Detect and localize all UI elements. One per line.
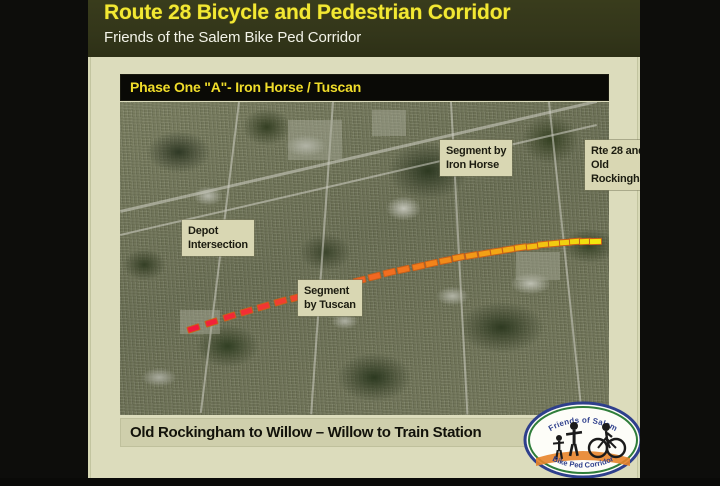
route-dash <box>452 253 466 262</box>
route-dash <box>222 312 236 322</box>
phase-caption-bar: Phase One "A"- Iron Horse / Tuscan <box>120 74 609 101</box>
route-dash <box>273 297 287 307</box>
letterbox-left-bar <box>0 0 88 486</box>
slide-header-band: Route 28 Bicycle and Pedestrian Corridor… <box>88 0 640 57</box>
route-dash <box>397 265 411 275</box>
slide-paper-surface: Phase One "A"- Iron Horse / Tuscan <box>90 57 638 486</box>
route-dash <box>411 261 425 271</box>
friends-of-salem-logo: Friends of Salem <box>522 400 640 480</box>
route-dash <box>186 323 201 334</box>
bike-route-overlay <box>120 102 609 415</box>
slide-subtitle: Friends of the Salem Bike Ped Corridor <box>104 29 361 46</box>
callout-segment-by-tuscan: Segment by Tuscan <box>298 280 362 316</box>
route-dash <box>239 306 253 316</box>
letterbox-right-bar <box>640 0 720 486</box>
callout-depot-intersection: Depot Intersection <box>182 220 254 256</box>
callout-rte-28-and-old-rockingham: Rte 28 and Old Rockingham <box>585 140 640 190</box>
route-dash <box>465 251 479 260</box>
route-dash <box>204 317 218 328</box>
route-dash <box>256 301 270 311</box>
route-dash <box>425 259 439 269</box>
route-dash <box>382 268 396 278</box>
route-dash <box>589 237 602 244</box>
callout-segment-by-iron-horse: Segment by Iron Horse <box>440 140 512 176</box>
route-dash <box>368 271 382 281</box>
route-dash <box>438 256 452 265</box>
letterbox-bottom-bar <box>0 478 720 486</box>
phase-caption-label: Phase One "A"- Iron Horse / Tuscan <box>130 79 361 95</box>
slide-title: Route 28 Bicycle and Pedestrian Corridor <box>104 1 510 25</box>
footer-caption-label: Old Rockingham to Willow – Willow to Tra… <box>130 424 481 441</box>
aerial-map-photo <box>120 102 609 415</box>
logo-artwork: Friends of Salem <box>522 400 640 480</box>
slide-body: Phase One "A"- Iron Horse / Tuscan <box>88 57 640 486</box>
video-letterbox-frame: Route 28 Bicycle and Pedestrian Corridor… <box>0 0 720 486</box>
presentation-slide: Route 28 Bicycle and Pedestrian Corridor… <box>88 0 640 486</box>
